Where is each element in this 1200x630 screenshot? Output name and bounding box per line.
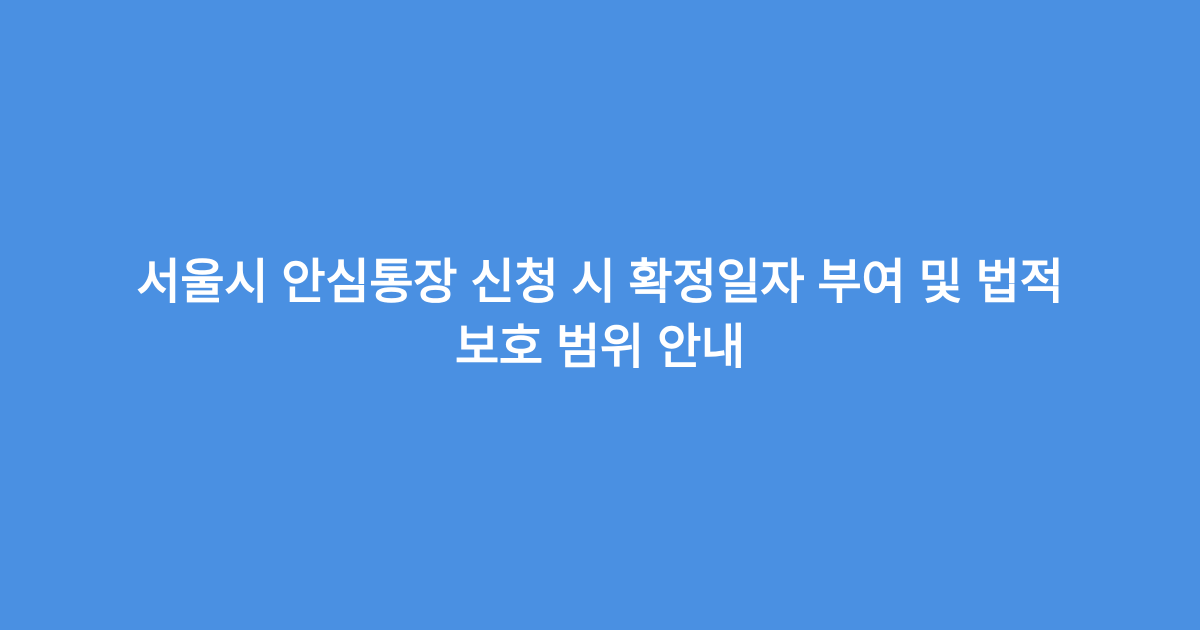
page-title: 서울시 안심통장 신청 시 확정일자 부여 및 법적 보호 범위 안내 — [95, 250, 1105, 380]
headline-block: 서울시 안심통장 신청 시 확정일자 부여 및 법적 보호 범위 안내 — [95, 250, 1105, 380]
og-banner-canvas: 서울시 안심통장 신청 시 확정일자 부여 및 법적 보호 범위 안내 — [0, 0, 1200, 630]
